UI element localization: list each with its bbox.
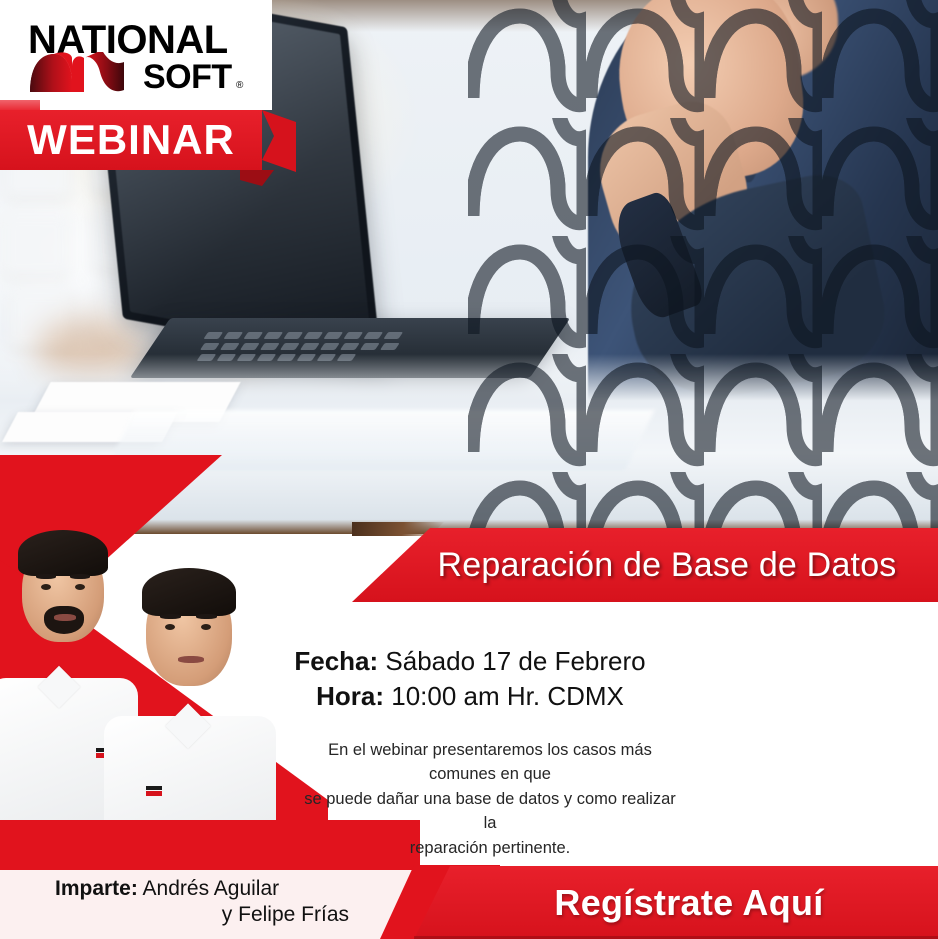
logo-text-soft: SOFT — [143, 58, 232, 97]
event-time-value: 10:00 am Hr. CDMX — [391, 681, 624, 711]
presenters-label: Imparte: — [55, 877, 138, 900]
brand-logo: NATIONAL SOFT ® — [0, 0, 272, 110]
webinar-poster: NATIONAL SOFT ® — [0, 0, 938, 939]
event-details: Fecha: Sábado 17 de Febrero Hora: 10:00 … — [240, 644, 700, 714]
description-line-2: se puede dañar una base de datos y como … — [300, 787, 680, 836]
description-line-1: En el webinar presentaremos los casos má… — [300, 738, 680, 787]
presenters-credit: Imparte: Andrés Aguilar y Felipe Frías — [55, 876, 385, 927]
register-button[interactable]: Regístrate Aquí — [414, 866, 938, 939]
event-date-line: Fecha: Sábado 17 de Febrero — [240, 644, 700, 679]
webinar-ribbon-label: WEBINAR — [27, 119, 235, 161]
event-time-label: Hora: — [316, 681, 384, 711]
description-line-3: reparación pertinente. — [300, 836, 680, 860]
title-banner: Reparación de Base de Datos — [352, 528, 938, 602]
national-soft-n-mark — [28, 52, 138, 96]
registered-mark-icon: ® — [236, 80, 243, 91]
presenter-name-2: y Felipe Frías — [55, 902, 385, 928]
webinar-ribbon: WEBINAR — [0, 110, 262, 170]
presenter-name-1: Andrés Aguilar — [143, 877, 280, 900]
event-date-value: Sábado 17 de Febrero — [385, 646, 645, 676]
register-button-label: Regístrate Aquí — [528, 882, 823, 924]
event-time-line: Hora: 10:00 am Hr. CDMX — [240, 679, 700, 714]
shirt-logo-right — [146, 786, 162, 796]
page-title: Reparación de Base de Datos — [393, 546, 896, 585]
event-description: En el webinar presentaremos los casos má… — [300, 738, 680, 860]
presenters-line-1: Imparte: Andrés Aguilar — [55, 876, 385, 902]
event-date-label: Fecha: — [294, 646, 378, 676]
